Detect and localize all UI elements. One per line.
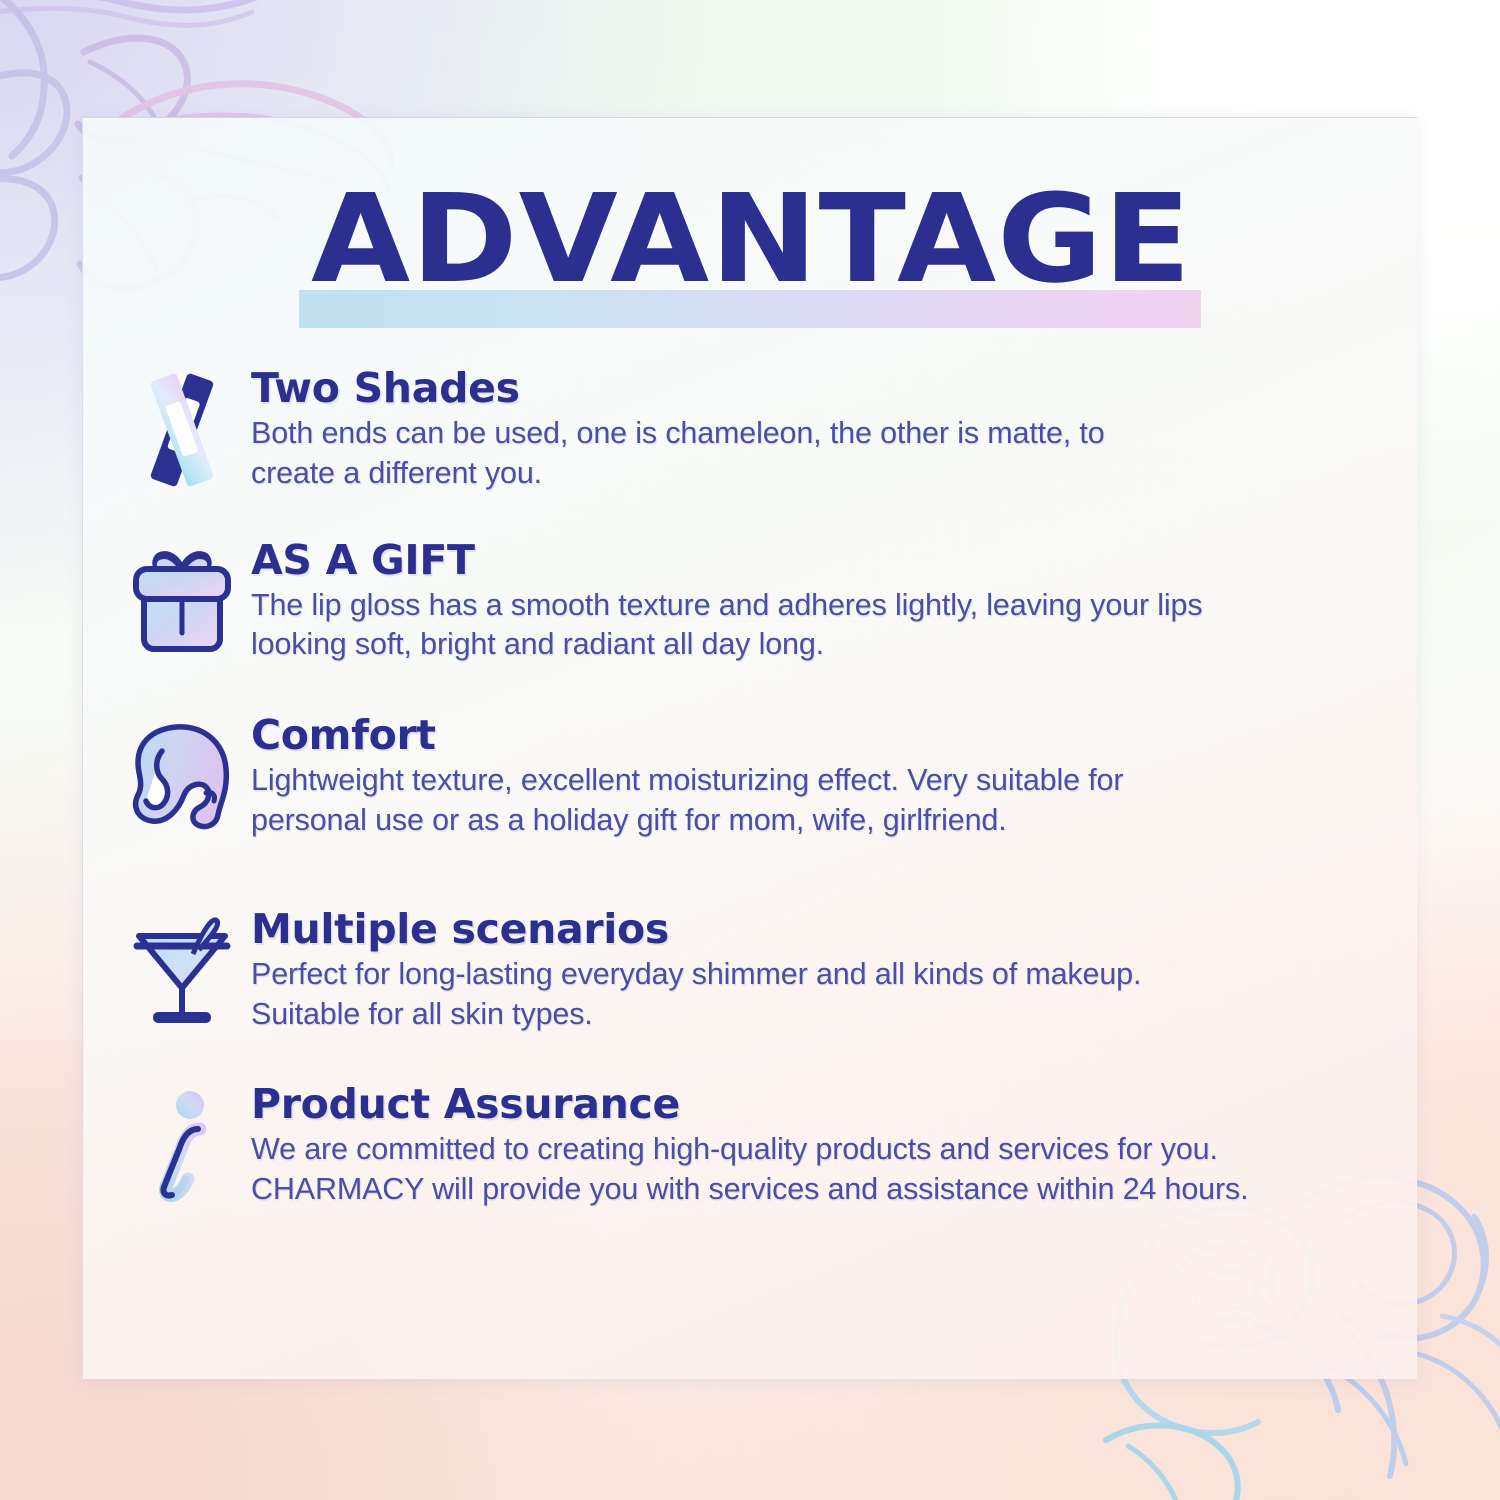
- feature-text: Multiple scenarios Perfect for long-last…: [243, 907, 1418, 1035]
- feature-body-line: create a different you.: [251, 454, 1400, 494]
- italic-info-i-icon: [121, 1086, 243, 1206]
- feature-body: Lightweight texture, excellent moisturiz…: [251, 761, 1400, 840]
- feature-body-line: We are committed to creating high-qualit…: [251, 1130, 1400, 1170]
- feature-heading: AS A GIFT: [251, 538, 1400, 582]
- feature-heading: Comfort: [251, 713, 1400, 757]
- feature-body: The lip gloss has a smooth texture and a…: [251, 586, 1400, 665]
- feature-body-line: Perfect for long-lasting everyday shimme…: [251, 955, 1400, 995]
- feature-heading: Product Assurance: [251, 1082, 1400, 1126]
- feature-heading: Multiple scenarios: [251, 907, 1400, 951]
- feature-body: Perfect for long-lasting everyday shimme…: [251, 955, 1400, 1034]
- feature-body-line: looking soft, bright and radiant all day…: [251, 625, 1400, 665]
- feature-body-line: Lightweight texture, excellent moisturiz…: [251, 761, 1400, 801]
- feature-item: Multiple scenarios Perfect for long-last…: [83, 907, 1418, 1035]
- feature-body-line: personal use or as a holiday gift for mo…: [251, 801, 1400, 841]
- two-lipstick-sticks-icon: [121, 370, 243, 490]
- woman-hair-profile-icon: [121, 717, 243, 837]
- feature-item: Product Assurance We are committed to cr…: [83, 1082, 1418, 1210]
- feature-body: Both ends can be used, one is chameleon,…: [251, 414, 1400, 493]
- feature-text: Two Shades Both ends can be used, one is…: [243, 366, 1418, 494]
- feature-body: We are committed to creating high-qualit…: [251, 1130, 1400, 1209]
- feature-text: AS A GIFT The lip gloss has a smooth tex…: [243, 538, 1418, 666]
- feature-heading: Two Shades: [251, 366, 1400, 410]
- feature-body-line: CHARMACY will provide you with services …: [251, 1170, 1400, 1210]
- gift-box-icon: [121, 542, 243, 662]
- poster-canvas: ADVANTAGE: [0, 0, 1500, 1500]
- feature-item: Two Shades Both ends can be used, one is…: [83, 366, 1418, 494]
- feature-body-line: Both ends can be used, one is chameleon,…: [251, 414, 1400, 454]
- feature-body-line: Suitable for all skin types.: [251, 995, 1400, 1035]
- cocktail-glass-icon: [121, 911, 243, 1031]
- feature-text: Product Assurance We are committed to cr…: [243, 1082, 1418, 1210]
- title-block: ADVANTAGE: [299, 198, 1204, 328]
- feature-text: Comfort Lightweight texture, excellent m…: [243, 713, 1418, 841]
- feature-list: Two Shades Both ends can be used, one is…: [83, 366, 1418, 1210]
- feature-item: AS A GIFT The lip gloss has a smooth tex…: [83, 538, 1418, 666]
- content-card: ADVANTAGE: [82, 117, 1417, 1379]
- feature-item: Comfort Lightweight texture, excellent m…: [83, 713, 1418, 841]
- page-title: ADVANTAGE: [276, 178, 1226, 300]
- feature-body-line: The lip gloss has a smooth texture and a…: [251, 586, 1400, 626]
